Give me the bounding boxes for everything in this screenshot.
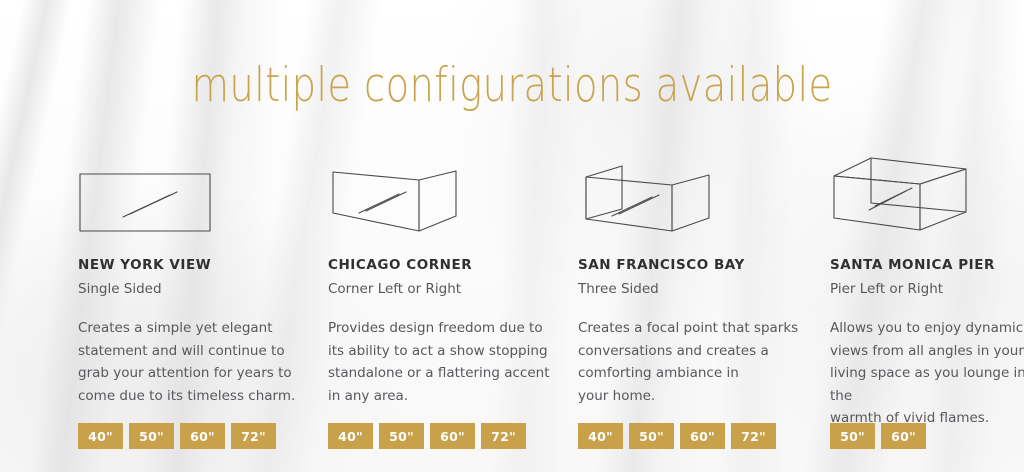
card-description: Creates a simple yet elegant statement a… (78, 317, 310, 407)
card-subtitle: Single Sided (78, 280, 328, 298)
size-options-row: 40" 50" 60" 72" (328, 423, 526, 449)
size-badge[interactable]: 60" (881, 423, 926, 449)
card-title: SANTA MONICA PIER (830, 256, 1024, 274)
card-title: NEW YORK VIEW (78, 256, 328, 274)
configuration-card-santa-monica-pier: SANTA MONICA PIER Pier Left or Right All… (830, 150, 1024, 472)
card-description: Provides design freedom due to its abili… (328, 317, 560, 407)
card-description: Allows you to enjoy dynamic views from a… (830, 317, 1024, 430)
size-badge[interactable]: 72" (231, 423, 276, 449)
size-badge[interactable]: 50" (129, 423, 174, 449)
size-badge[interactable]: 40" (78, 423, 123, 449)
size-badge[interactable]: 60" (180, 423, 225, 449)
card-subtitle: Pier Left or Right (830, 280, 1024, 298)
corner-fireplace-icon (328, 150, 528, 232)
card-title: SAN FRANCISCO BAY (578, 256, 828, 274)
card-description: Creates a focal point that sparks conver… (578, 317, 810, 407)
configuration-card-san-francisco-bay: SAN FRANCISCO BAY Three Sided Creates a … (578, 150, 828, 472)
configuration-card-grid: NEW YORK VIEW Single Sided Creates a sim… (0, 150, 1024, 472)
size-badge[interactable]: 50" (379, 423, 424, 449)
size-options-row: 40" 50" 60" 72" (578, 423, 776, 449)
size-badge[interactable]: 72" (731, 423, 776, 449)
size-badge[interactable]: 60" (430, 423, 475, 449)
three-sided-fireplace-icon (578, 150, 778, 232)
size-badge[interactable]: 72" (481, 423, 526, 449)
configuration-card-chicago-corner: CHICAGO CORNER Corner Left or Right Prov… (328, 150, 578, 472)
card-title: CHICAGO CORNER (328, 256, 578, 274)
size-badge[interactable]: 40" (328, 423, 373, 449)
page-title: multiple configurations available (92, 54, 932, 118)
size-badge[interactable]: 50" (629, 423, 674, 449)
pier-fireplace-icon (830, 150, 1024, 232)
size-badge[interactable]: 50" (830, 423, 875, 449)
configuration-card-new-york-view: NEW YORK VIEW Single Sided Creates a sim… (78, 150, 328, 472)
size-options-row: 50" 60" (830, 423, 926, 449)
size-badge[interactable]: 60" (680, 423, 725, 449)
card-subtitle: Corner Left or Right (328, 280, 578, 298)
single-sided-fireplace-icon (78, 150, 278, 232)
card-subtitle: Three Sided (578, 280, 828, 298)
size-badge[interactable]: 40" (578, 423, 623, 449)
size-options-row: 40" 50" 60" 72" (78, 423, 276, 449)
